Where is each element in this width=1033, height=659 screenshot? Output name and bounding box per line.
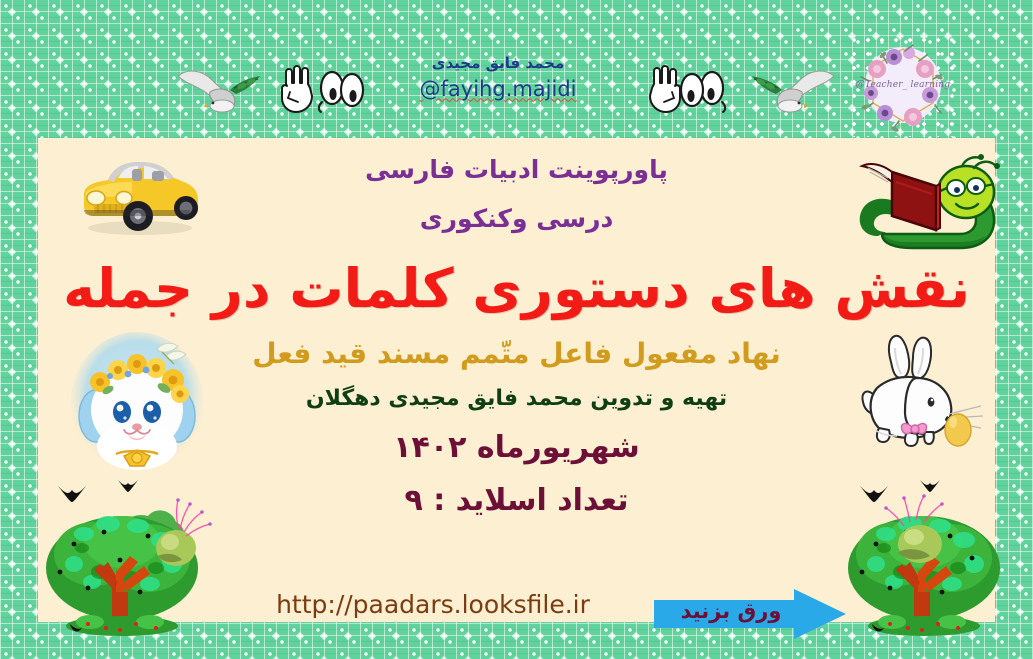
next-slide-button[interactable]: ورق بزنید [652,587,848,641]
dove-with-olive-branch-icon [172,62,264,118]
green-tree-illustration [30,472,220,642]
cartoon-eyes-icon [676,68,732,114]
dove-with-olive-branch-icon [748,62,840,118]
author-handle-block: محمد فایق مجیدی @fayihg.majidi [398,52,598,103]
instagram-handle[interactable]: @fayihg.majidi [398,75,598,103]
subtitle-line-2: درسی وکنکوری [38,203,995,234]
teacher-learning-logo: @Teacher_ learning [847,33,959,137]
page-title: نقش های دستوری کلمات در جمله [38,255,995,323]
logo-label: @Teacher_ learning [847,80,959,90]
green-tree-illustration [832,472,1022,642]
slide-header: محمد فایق مجیدی @fayihg.majidi [0,0,1033,138]
white-puppy-with-flower-crown-illustration [66,330,208,478]
presentation-title-slide: محمد فایق مجیدی @fayihg.majidi [0,0,1033,659]
cartoon-eyes-icon [312,68,368,114]
subtitle-line-1: پاورپوینت ادبیات فارسی [38,154,995,185]
website-url[interactable]: http://paadars.looksfile.ir [258,590,608,619]
next-slide-label: ورق بزنید [666,599,796,623]
white-rabbit-with-golden-egg-illustration [855,332,985,454]
author-name-persian: محمد فایق مجیدی [398,52,598,75]
